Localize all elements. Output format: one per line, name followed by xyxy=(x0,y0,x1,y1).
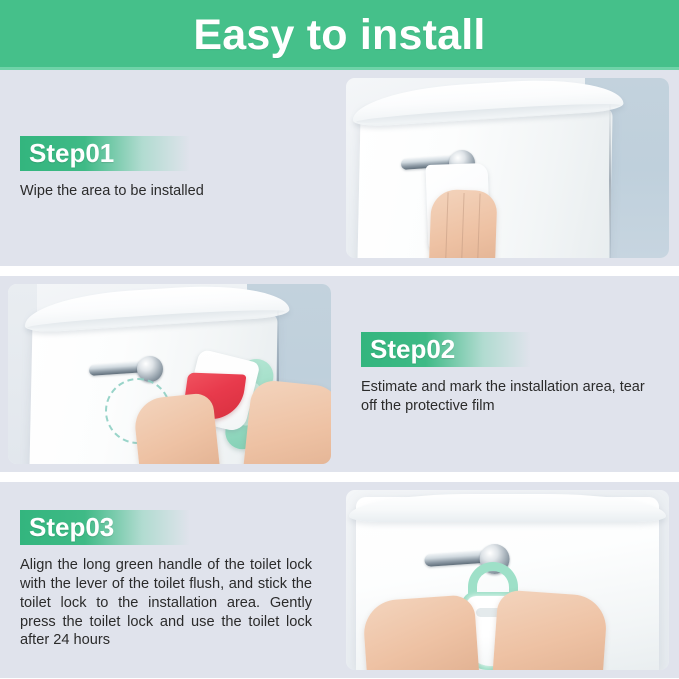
step-2-photo-pane xyxy=(0,276,341,472)
step-1-photo xyxy=(346,78,669,258)
hand-pressing-right xyxy=(491,589,607,670)
step-row-2: Step02 Estimate and mark the installatio… xyxy=(0,276,679,472)
step-3-photo xyxy=(346,490,669,670)
step-row-3: Step03 Align the long green handle of th… xyxy=(0,482,679,678)
step-3-photo-pane xyxy=(338,482,679,678)
step-3-badge: Step03 xyxy=(20,510,190,545)
step-2-photo xyxy=(8,284,331,464)
page-title: Easy to install xyxy=(193,14,485,57)
easy-to-install-infographic: Easy to install Step01 Wipe the area to … xyxy=(0,0,679,679)
tank-edge-shadow xyxy=(609,103,611,258)
finger-separations xyxy=(428,192,497,258)
step-1-badge: Step01 xyxy=(20,136,190,171)
hand-holding-device xyxy=(242,379,331,464)
hand-peeling-film xyxy=(133,392,222,464)
step-3-text-pane: Step03 Align the long green handle of th… xyxy=(0,482,338,678)
row-divider-1 xyxy=(0,266,679,276)
step-3-description: Align the long green handle of the toile… xyxy=(20,556,312,651)
header-banner: Easy to install xyxy=(0,0,679,70)
flush-lever-icon xyxy=(89,356,163,382)
step-1-description: Wipe the area to be installed xyxy=(20,182,320,201)
step-1-text-pane: Step01 Wipe the area to be installed xyxy=(0,70,338,266)
step-2-description: Estimate and mark the installation area,… xyxy=(361,378,661,415)
hand-pressing-left xyxy=(362,594,480,670)
step-2-text-pane: Step02 Estimate and mark the installatio… xyxy=(341,276,679,472)
step-1-photo-pane xyxy=(338,70,679,266)
toilet-tank-lid xyxy=(349,494,666,523)
step-row-1: Step01 Wipe the area to be installed xyxy=(0,70,679,266)
row-divider-2 xyxy=(0,472,679,482)
step-2-badge: Step02 xyxy=(361,332,531,367)
